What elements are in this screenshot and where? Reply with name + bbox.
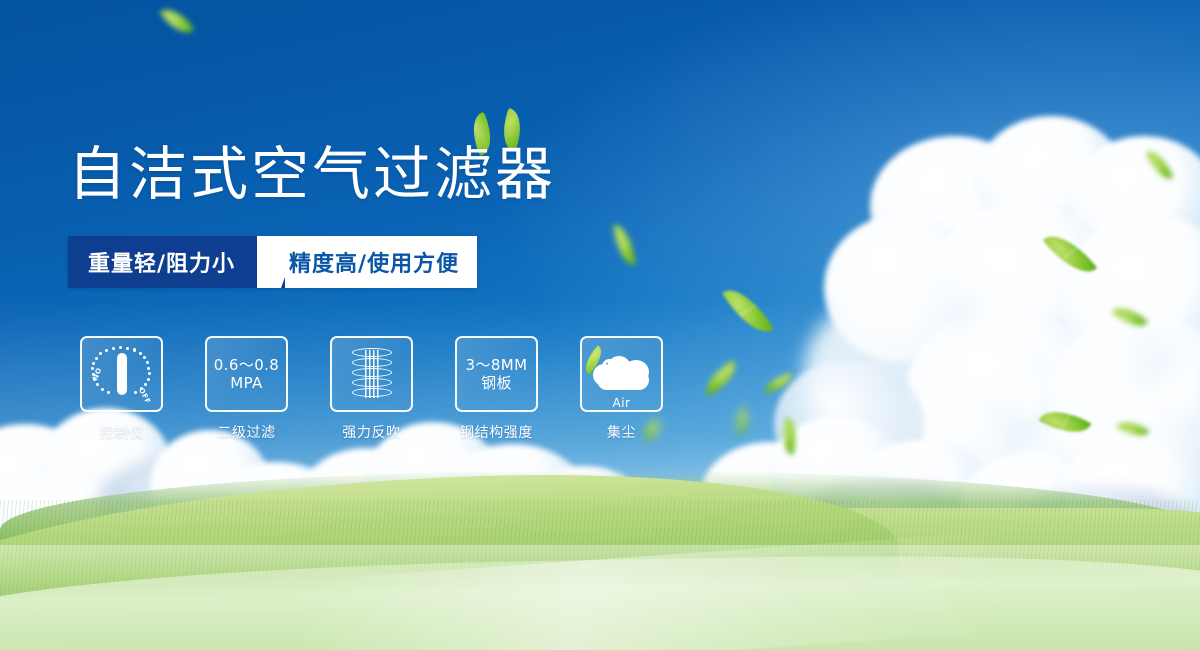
feature-icon-box bbox=[330, 336, 413, 412]
subtitle-left-badge: 重量轻/阻力小 bbox=[68, 236, 257, 288]
subtitle-bar: 重量轻/阻力小 精度高/使用方便 bbox=[68, 236, 477, 288]
feature-label: 控制仪 bbox=[100, 422, 144, 442]
pressure-text-icon: 0.6～0.8 MPA bbox=[214, 356, 280, 393]
feature-label: 钢结构强度 bbox=[460, 422, 533, 442]
feature-icon-box: 0.6～0.8 MPA bbox=[205, 336, 288, 412]
steel-line-1: 3～8MM bbox=[466, 356, 528, 374]
feature-label: 二级过滤 bbox=[217, 422, 275, 442]
feature-list: NO OFF 控制仪 0.6～0.8 MPA 二级过滤 bbox=[80, 336, 663, 442]
feature-label: 集尘 bbox=[607, 422, 636, 442]
air-label: Air bbox=[591, 396, 653, 410]
steel-line-2: 钢板 bbox=[481, 374, 512, 392]
feature-icon-box: NO OFF bbox=[80, 336, 163, 412]
grass-sheen bbox=[0, 545, 1200, 650]
pressure-line-1: 0.6～0.8 bbox=[214, 356, 280, 374]
gauge-dial-icon: NO OFF bbox=[92, 346, 152, 402]
feature-item-two-stage-filter[interactable]: 0.6～0.8 MPA 二级过滤 bbox=[205, 336, 288, 442]
cloud-wisp-a bbox=[860, 284, 980, 336]
cloud-notch-icon bbox=[602, 359, 617, 374]
pressure-line-2: MPA bbox=[230, 374, 263, 392]
subtitle-right-badge: 精度高/使用方便 bbox=[285, 236, 477, 288]
subtitle-divider bbox=[257, 236, 285, 288]
banner-stage: 自洁式空气过滤器 重量轻/阻力小 精度高/使用方便 bbox=[0, 0, 1200, 650]
spiral-filter-icon bbox=[348, 346, 396, 402]
air-cloud-icon: Air bbox=[591, 352, 653, 396]
page-title: 自洁式空气过滤器 bbox=[68, 144, 556, 205]
feature-item-steel-strength[interactable]: 3～8MM 钢板 钢结构强度 bbox=[455, 336, 538, 442]
feature-item-dust-collection[interactable]: Air 集尘 bbox=[580, 336, 663, 442]
steel-plate-text-icon: 3～8MM 钢板 bbox=[466, 356, 528, 393]
feature-label: 强力反吹 bbox=[342, 422, 400, 442]
gauge-needle-icon bbox=[117, 353, 127, 395]
feature-item-backflow[interactable]: 强力反吹 bbox=[330, 336, 413, 442]
gauge-off-label: OFF bbox=[137, 387, 152, 406]
feature-icon-box: 3～8MM 钢板 bbox=[455, 336, 538, 412]
feature-icon-box: Air bbox=[580, 336, 663, 412]
feature-item-controller[interactable]: NO OFF 控制仪 bbox=[80, 336, 163, 442]
cloud-wisp-b bbox=[1028, 330, 1178, 390]
